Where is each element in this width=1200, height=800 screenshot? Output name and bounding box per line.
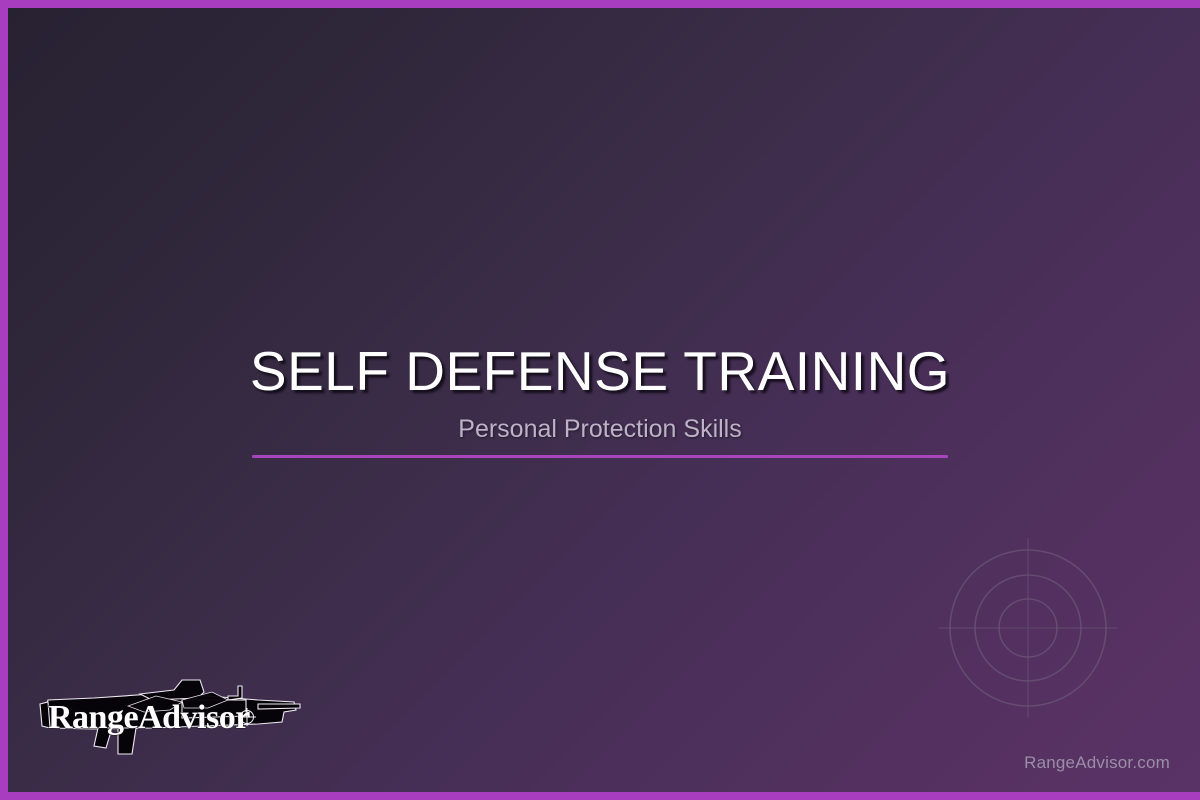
site-footer: RangeAdvisor.com bbox=[1024, 753, 1170, 773]
crosshair-target-icon bbox=[920, 520, 1136, 736]
title-divider bbox=[252, 455, 948, 458]
page-subtitle: Personal Protection Skills bbox=[8, 417, 1192, 442]
slide-canvas: SELF DEFENSE TRAINING Personal Protectio… bbox=[8, 8, 1200, 792]
logo-wordmark: RangeAdvisor bbox=[48, 699, 250, 736]
page-title: SELF DEFENSE TRAINING bbox=[8, 344, 1192, 399]
rifle-silhouette-logo: RangeAdvisor bbox=[32, 676, 302, 766]
presentation-slide: SELF DEFENSE TRAINING Personal Protectio… bbox=[0, 0, 1200, 800]
